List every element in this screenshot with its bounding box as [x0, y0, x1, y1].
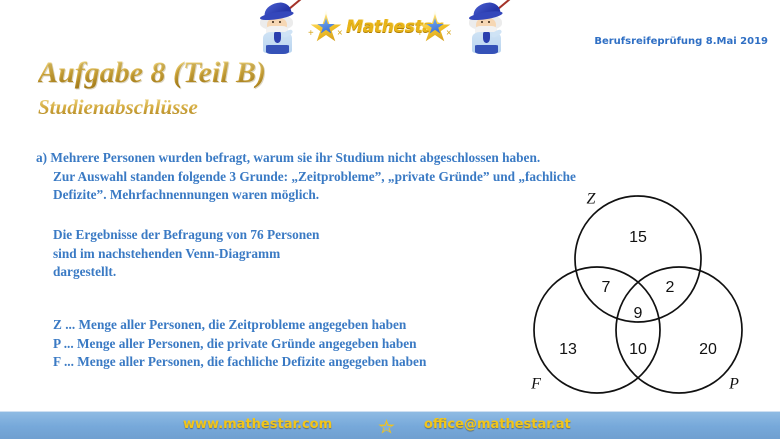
times-symbol-icon: × — [446, 29, 452, 39]
set-definition-p: P ... Menge aller Personen, die private … — [53, 336, 417, 351]
wizard-tie — [274, 32, 281, 43]
venn-value-f-and-p: 10 — [629, 341, 647, 358]
venn-label-f: F — [530, 376, 541, 393]
venn-label-z: Z — [587, 191, 597, 208]
footer-bar: www.mathestar.com office@mathestar.at — [0, 411, 780, 439]
times-symbol-icon: × — [337, 29, 343, 39]
set-definition-f: F ... Menge aller Personen, die fachlich… — [53, 354, 426, 369]
venn-value-z-and-p: 2 — [666, 279, 675, 296]
wizard-tie — [483, 32, 490, 43]
task-a-line-2: Zur Auswahl standen folgende 3 Grunde: „… — [36, 168, 576, 187]
wizard-eye-right — [488, 21, 490, 23]
venn-circle-p — [616, 267, 742, 393]
set-definitions-list: Z ... Menge aller Personen, die Zeitprob… — [53, 316, 426, 372]
minus-symbol-icon: – — [432, 37, 437, 47]
results-line-1: Die Ergebnisse der Befragung von 76 Pers… — [53, 227, 319, 242]
task-a-line-3: Defizite”. Mehrfachnennungen waren mögli… — [36, 186, 576, 205]
wizard-eye-left — [481, 21, 483, 23]
results-line-3: dargestellt. — [53, 264, 116, 279]
venn-label-p: P — [728, 376, 739, 393]
wizard-mascot-left-icon — [252, 2, 304, 54]
set-definition-z: Z ... Menge aller Personen, die Zeitprob… — [53, 317, 406, 332]
page-subtitle: Studienabschlüsse — [38, 95, 198, 120]
brand-logo-band: + × – Mathestar + × – — [250, 0, 515, 56]
results-line-2: sind im nachstehenden Venn-Diagramm — [53, 246, 280, 261]
venn-value-f-only: 13 — [559, 341, 577, 358]
wizard-eye-left — [272, 21, 274, 23]
venn-diagram: 15 7 2 9 13 10 20 Z F P — [510, 186, 780, 408]
wizard-legs — [266, 45, 289, 54]
footer-email-link[interactable]: office@mathestar.at — [424, 417, 571, 432]
exam-date-label: Berufsreifeprüfung 8.Mai 2019 — [594, 36, 768, 47]
star-logo-right-icon: + × – — [416, 12, 454, 46]
page-title: Aufgabe 8 (Teil B) — [38, 56, 266, 90]
venn-value-p-only: 20 — [699, 341, 717, 358]
venn-value-z-and-f: 7 — [602, 279, 611, 296]
venn-circle-f — [534, 267, 660, 393]
minus-symbol-icon: – — [323, 37, 328, 47]
wizard-mascot-right-icon — [461, 2, 513, 54]
brand-name: Mathestar — [346, 17, 416, 37]
footer-star-icon — [378, 419, 395, 435]
slide-canvas: + × – Mathestar + × – Berufsrei — [0, 0, 780, 439]
venn-value-all-three: 9 — [634, 305, 643, 322]
venn-circle-z — [575, 196, 701, 322]
plus-symbol-icon: + — [417, 29, 423, 39]
wizard-eye-right — [279, 21, 281, 23]
task-a-line-1: a) Mehrere Personen wurden befragt, waru… — [36, 150, 540, 165]
wizard-legs — [475, 45, 498, 54]
star-logo-left-icon: + × – — [307, 12, 345, 46]
plus-symbol-icon: + — [308, 29, 314, 39]
venn-value-z-only: 15 — [629, 229, 647, 246]
survey-results-paragraph: Die Ergebnisse der Befragung von 76 Pers… — [53, 226, 319, 282]
task-a-paragraph: a) Mehrere Personen wurden befragt, waru… — [36, 149, 576, 205]
footer-website-link[interactable]: www.mathestar.com — [183, 417, 332, 432]
